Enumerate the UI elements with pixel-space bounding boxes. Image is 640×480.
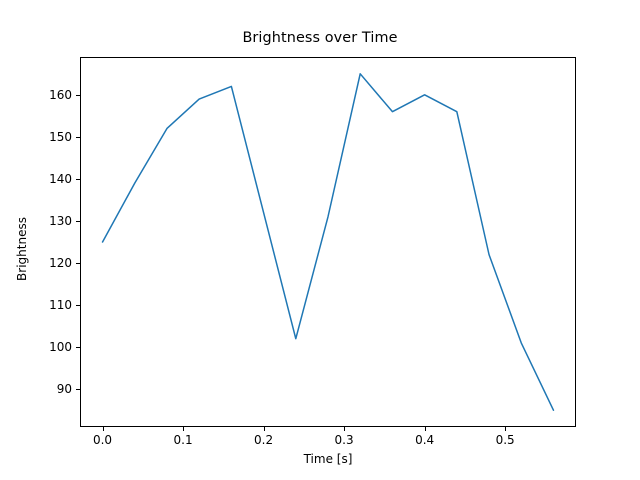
y-axis-label: Brightness xyxy=(15,179,29,319)
x-tick-mark xyxy=(264,427,265,431)
x-tick-label: 0.2 xyxy=(254,433,273,447)
x-tick-mark xyxy=(183,427,184,431)
x-tick-label: 0.5 xyxy=(496,433,515,447)
brightness-line-series xyxy=(103,74,554,410)
y-tick-label: 130 xyxy=(49,214,72,228)
y-tick-label: 140 xyxy=(49,172,72,186)
y-tick-label: 120 xyxy=(49,256,72,270)
line-chart-canvas xyxy=(80,57,576,427)
y-tick-mark xyxy=(76,263,80,264)
y-tick-label: 100 xyxy=(49,340,72,354)
y-tick-label: 160 xyxy=(49,88,72,102)
x-tick-mark xyxy=(344,427,345,431)
y-tick-label: 90 xyxy=(57,382,72,396)
y-tick-mark xyxy=(76,389,80,390)
x-tick-label: 0.1 xyxy=(174,433,193,447)
y-tick-label: 110 xyxy=(49,298,72,312)
y-tick-mark xyxy=(76,221,80,222)
chart-figure: Brightness over Time 9010011012013014015… xyxy=(0,0,640,480)
x-tick-mark xyxy=(103,427,104,431)
y-tick-mark xyxy=(76,95,80,96)
x-axis-label: Time [s] xyxy=(80,452,576,466)
chart-title: Brightness over Time xyxy=(0,30,640,46)
y-tick-mark xyxy=(76,347,80,348)
x-tick-label: 0.0 xyxy=(93,433,112,447)
y-tick-mark xyxy=(76,137,80,138)
x-tick-mark xyxy=(425,427,426,431)
x-tick-label: 0.3 xyxy=(335,433,354,447)
x-tick-label: 0.4 xyxy=(415,433,434,447)
x-tick-mark xyxy=(505,427,506,431)
y-tick-label: 150 xyxy=(49,130,72,144)
y-tick-mark xyxy=(76,179,80,180)
y-tick-mark xyxy=(76,305,80,306)
